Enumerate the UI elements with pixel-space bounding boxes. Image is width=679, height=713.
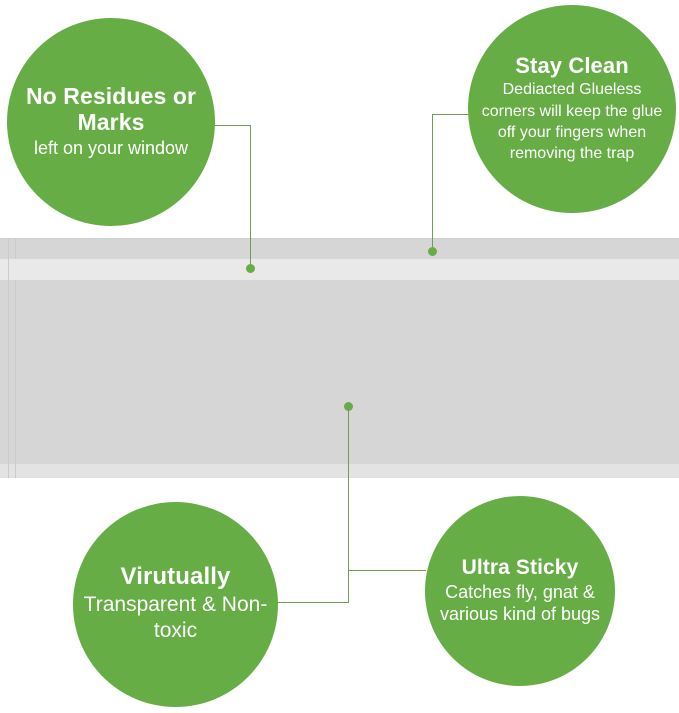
infographic-canvas: No Residues or Marks left on your window… [0,0,679,713]
connector-stay-clean-horizontal [432,114,469,115]
product-strip-bottom-highlight [0,464,679,478]
feature-title-virutually-transparent: Virutually [111,564,241,592]
feature-title-ultra-sticky: Ultra Sticky [454,556,587,581]
product-strip-top-highlight [0,259,679,280]
feature-body-ultra-sticky: Catches fly, gnat & various kind of bugs [425,581,615,626]
product-strip-bottom-edge [0,477,679,478]
feature-title-stay-clean: Stay Clean [507,54,637,80]
connector-bottom-trunk [348,406,349,603]
connector-no-residues-vertical [250,125,251,268]
connector-stay-clean-vertical [432,114,433,251]
product-strip-seam-lower [15,280,16,478]
connector-no-residues-anchor-dot [246,264,255,273]
connector-stay-clean-anchor-dot [428,247,437,256]
product-strip-seam-left [8,238,9,478]
feature-title-no-residues: No Residues or Marks [7,84,215,136]
feature-bubble-ultra-sticky[interactable]: Ultra Sticky Catches fly, gnat & various… [425,496,615,686]
product-strip-seam-upper [15,238,16,259]
feature-body-virutually-transparent: Transparent & Non- toxic [73,592,278,646]
feature-body-stay-clean: Dediacted Glueless corners will keep the… [468,79,676,164]
connector-ultra-sticky-horizontal [348,570,426,571]
connector-no-residues-horizontal [215,125,251,126]
feature-bubble-no-residues[interactable]: No Residues or Marks left on your window [7,18,215,226]
connector-transparent-horizontal [272,602,349,603]
feature-body-no-residues: left on your window [24,136,198,160]
feature-bubble-virutually-transparent[interactable]: Virutually Transparent & Non- toxic [73,502,278,707]
product-strip-top-edge [0,238,679,239]
feature-bubble-stay-clean[interactable]: Stay Clean Dediacted Glueless corners wi… [468,5,676,213]
